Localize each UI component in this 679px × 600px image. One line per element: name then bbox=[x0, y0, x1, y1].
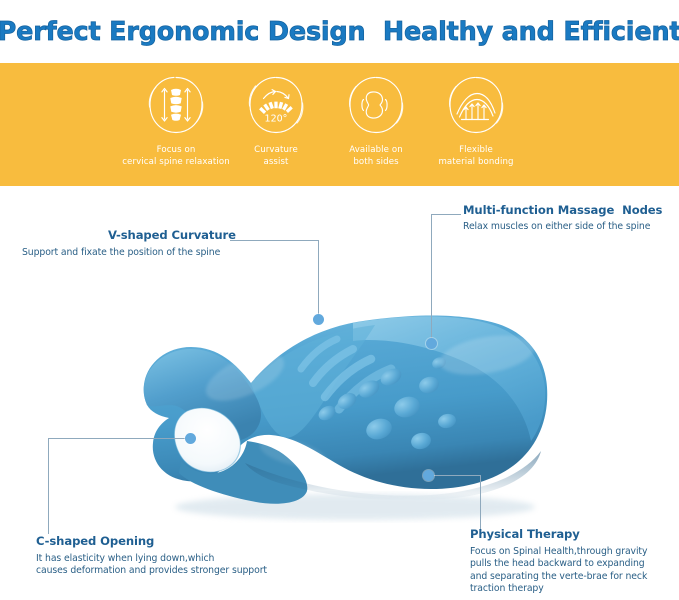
feature-caption: Focus oncervical spine relaxation bbox=[120, 145, 232, 168]
pillow-illustration bbox=[95, 285, 585, 535]
leader-line-c-shaped-v bbox=[48, 438, 49, 534]
leader-line-massage-h bbox=[431, 214, 461, 215]
leader-dot-therapy bbox=[423, 470, 434, 481]
feature-band: Focus oncervical spine relaxation bbox=[0, 63, 679, 186]
callout-title: V-shaped Curvature bbox=[108, 228, 236, 242]
callout-physical-therapy: Physical Therapy Focus on Spinal Health,… bbox=[470, 527, 647, 596]
infographic-canvas: Perfect Ergonomic Design Healthy and Eff… bbox=[0, 0, 679, 600]
feature-item-both-sides: Available onboth sides bbox=[320, 73, 432, 168]
leader-line-v-shaped-h bbox=[230, 240, 318, 241]
callout-title: Multi-function Massage Nodes bbox=[463, 203, 662, 217]
feature-caption: Curvatureassist bbox=[220, 145, 332, 168]
feature-band-inner: Focus oncervical spine relaxation bbox=[120, 63, 570, 186]
feature-item-spine: Focus oncervical spine relaxation bbox=[120, 73, 232, 168]
feature-item-flexible: Flexiblematerial bonding bbox=[420, 73, 532, 168]
leader-line-v-shaped-v bbox=[318, 240, 319, 318]
callout-body: It has elasticity when lying down,whichc… bbox=[36, 553, 267, 578]
leader-dot-v-shaped bbox=[313, 314, 324, 325]
feature-caption: Flexiblematerial bonding bbox=[420, 145, 532, 168]
spine-vertebrae-icon bbox=[144, 73, 208, 137]
pillow-side-profile-icon bbox=[344, 73, 408, 137]
leader-line-c-shaped-h bbox=[48, 438, 190, 439]
leader-dot-massage bbox=[426, 338, 437, 349]
callout-title: Physical Therapy bbox=[470, 527, 647, 541]
feature-caption: Available onboth sides bbox=[320, 145, 432, 168]
leader-line-therapy-h bbox=[428, 475, 480, 476]
angle-label: 120° bbox=[265, 114, 288, 125]
curvature-120-degree-icon: 120° bbox=[244, 73, 308, 137]
product-pillow-image bbox=[95, 285, 585, 535]
leader-dot-c-shaped bbox=[185, 433, 196, 444]
leader-line-massage-v bbox=[431, 214, 432, 342]
callout-v-shaped-curvature: V-shaped Curvature Support and fixate th… bbox=[22, 228, 236, 259]
callout-body: Support and fixate the position of the s… bbox=[22, 247, 236, 259]
callout-c-shaped-opening: C-shaped Opening It has elasticity when … bbox=[36, 534, 267, 578]
callout-massage-nodes: Multi-function Massage Nodes Relax muscl… bbox=[463, 203, 662, 233]
callout-body: Relax muscles on either side of the spin… bbox=[463, 221, 662, 233]
callout-title: C-shaped Opening bbox=[36, 534, 267, 548]
page-title: Perfect Ergonomic Design Healthy and Eff… bbox=[0, 17, 679, 47]
flexible-arch-arrows-icon bbox=[444, 73, 508, 137]
feature-item-curvature: 120° Curvatureassist bbox=[220, 73, 332, 168]
callout-body: Focus on Spinal Health,through gravitypu… bbox=[470, 546, 647, 596]
page-title-bar: Perfect Ergonomic Design Healthy and Eff… bbox=[0, 0, 679, 63]
